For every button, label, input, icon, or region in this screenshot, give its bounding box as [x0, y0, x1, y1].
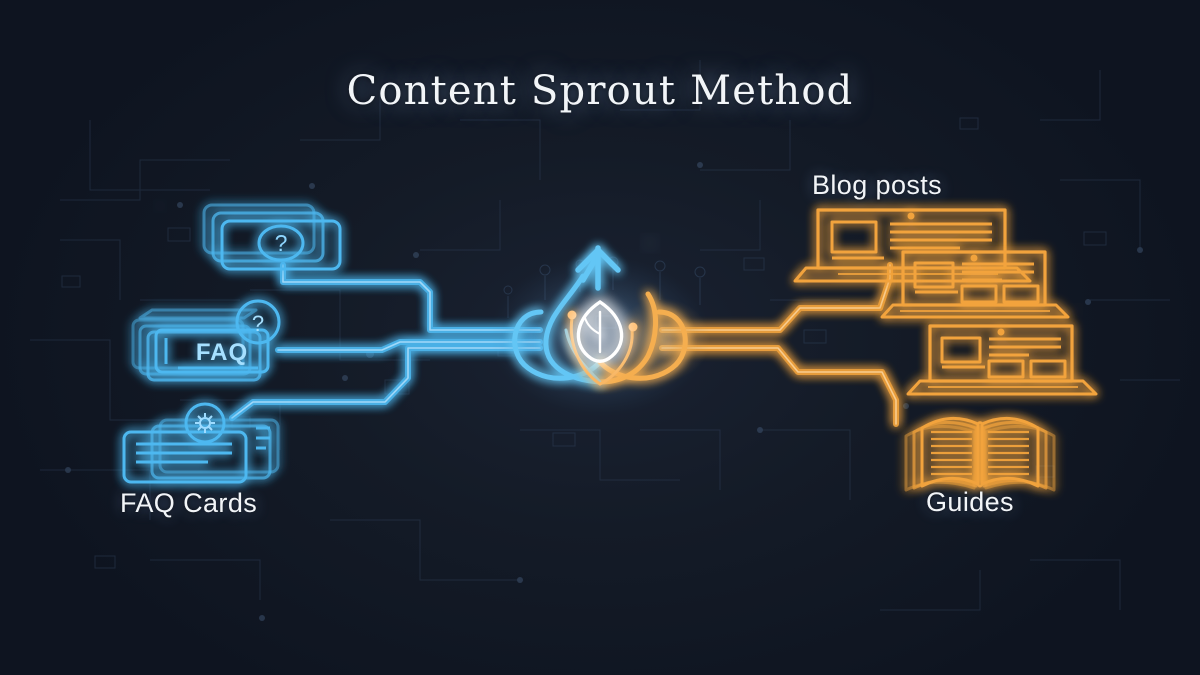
- sprout-bud-left: [568, 311, 577, 320]
- page-title: Content Sprout Method: [0, 68, 1200, 114]
- sprout-bud-right: [629, 323, 638, 332]
- laptop-icon-3[interactable]: [908, 326, 1096, 394]
- diagram-canvas: ? FAQ ?: [0, 0, 1200, 675]
- faq-badge-question-icon: ?: [252, 311, 264, 336]
- gear-icon: [195, 413, 215, 433]
- edge-faq-cards-to-core: [232, 348, 540, 418]
- laptop-icon-2[interactable]: [882, 252, 1068, 317]
- output-label-guides: Guides: [926, 487, 1014, 518]
- input-label-faq-cards: FAQ Cards: [120, 488, 257, 519]
- answer-cards-icon[interactable]: [124, 404, 278, 482]
- faq-glyph: FAQ: [196, 339, 248, 366]
- question-mark-glyph: ?: [275, 230, 288, 256]
- question-cards-icon[interactable]: [204, 205, 340, 269]
- laptop-icon-1[interactable]: [795, 210, 1030, 281]
- open-book-icon[interactable]: [906, 418, 1054, 490]
- output-label-blog-posts: Blog posts: [812, 170, 942, 201]
- sprout-core[interactable]: [490, 248, 710, 416]
